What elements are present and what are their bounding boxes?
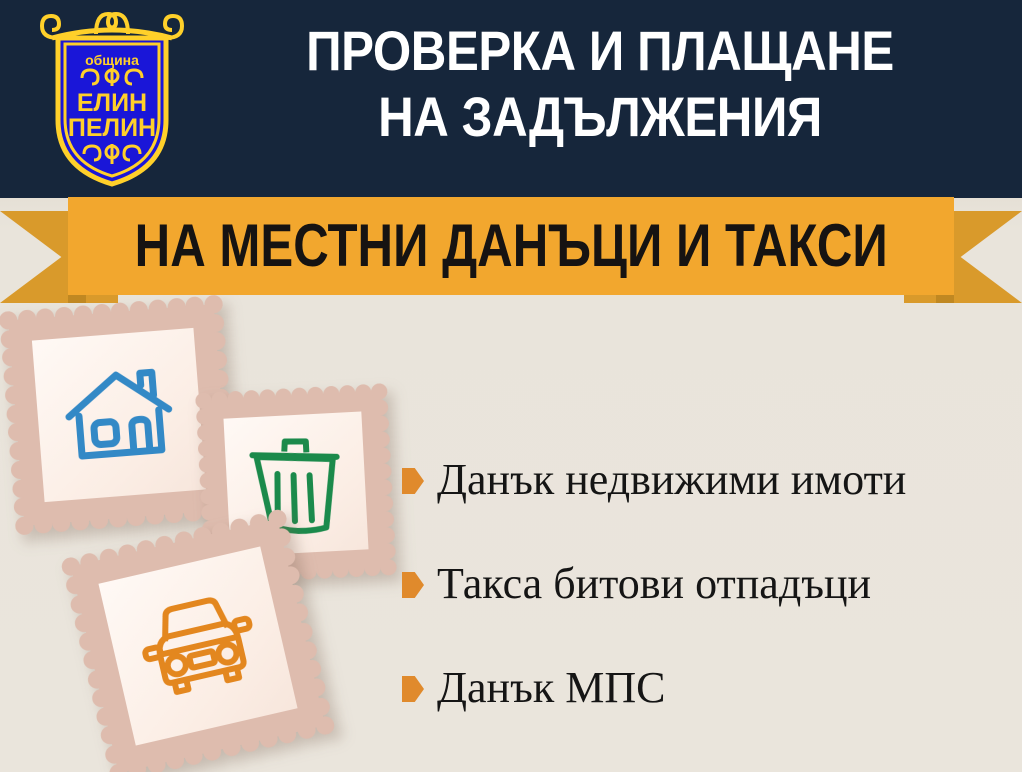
coat-of-arms-icon: община ЕЛИН ПЕЛИН: [38, 8, 186, 188]
stamp-card-property-tax: [8, 304, 230, 526]
emblem-line-2: ЕЛИН: [77, 89, 147, 117]
emblem-line-1: община: [85, 52, 139, 68]
list-item-label: Такса битови отпадъци: [437, 560, 871, 608]
list-item[interactable]: Данък недвижими имоти: [402, 428, 1012, 532]
ribbon-main-band: НА МЕСТНИ ДАНЪЦИ И ТАКСИ: [68, 197, 954, 295]
list-item[interactable]: Такса битови отпадъци: [402, 532, 1012, 636]
arrow-bullet-icon: [402, 572, 424, 598]
emblem-line-3: ПЕЛИН: [68, 114, 156, 142]
page-title: ПРОВЕРКА И ПЛАЩАНЕ НА ЗАДЪЛЖЕНИЯ: [239, 18, 961, 149]
house-icon: [59, 361, 179, 469]
list-item-label: Данък МПС: [437, 664, 665, 712]
stamp-paper: [98, 546, 297, 745]
arrow-bullet-icon: [402, 676, 424, 702]
stamp-paper: [32, 328, 206, 502]
poster-root: ПРОВЕРКА И ПЛАЩАНЕ НА ЗАДЪЛЖЕНИЯ община: [0, 0, 1022, 772]
arrow-bullet-icon: [402, 468, 424, 494]
tax-type-list: Данък недвижими имоти Такса битови отпад…: [402, 428, 1012, 740]
list-item[interactable]: Данък МПС: [402, 636, 1012, 740]
list-item-label: Данък недвижими имоти: [437, 456, 906, 504]
ribbon-label: НА МЕСТНИ ДАНЪЦИ И ТАКСИ: [134, 216, 887, 276]
car-icon: [130, 586, 267, 706]
ribbon-banner: НА МЕСТНИ ДАНЪЦИ И ТАКСИ: [0, 197, 1022, 307]
